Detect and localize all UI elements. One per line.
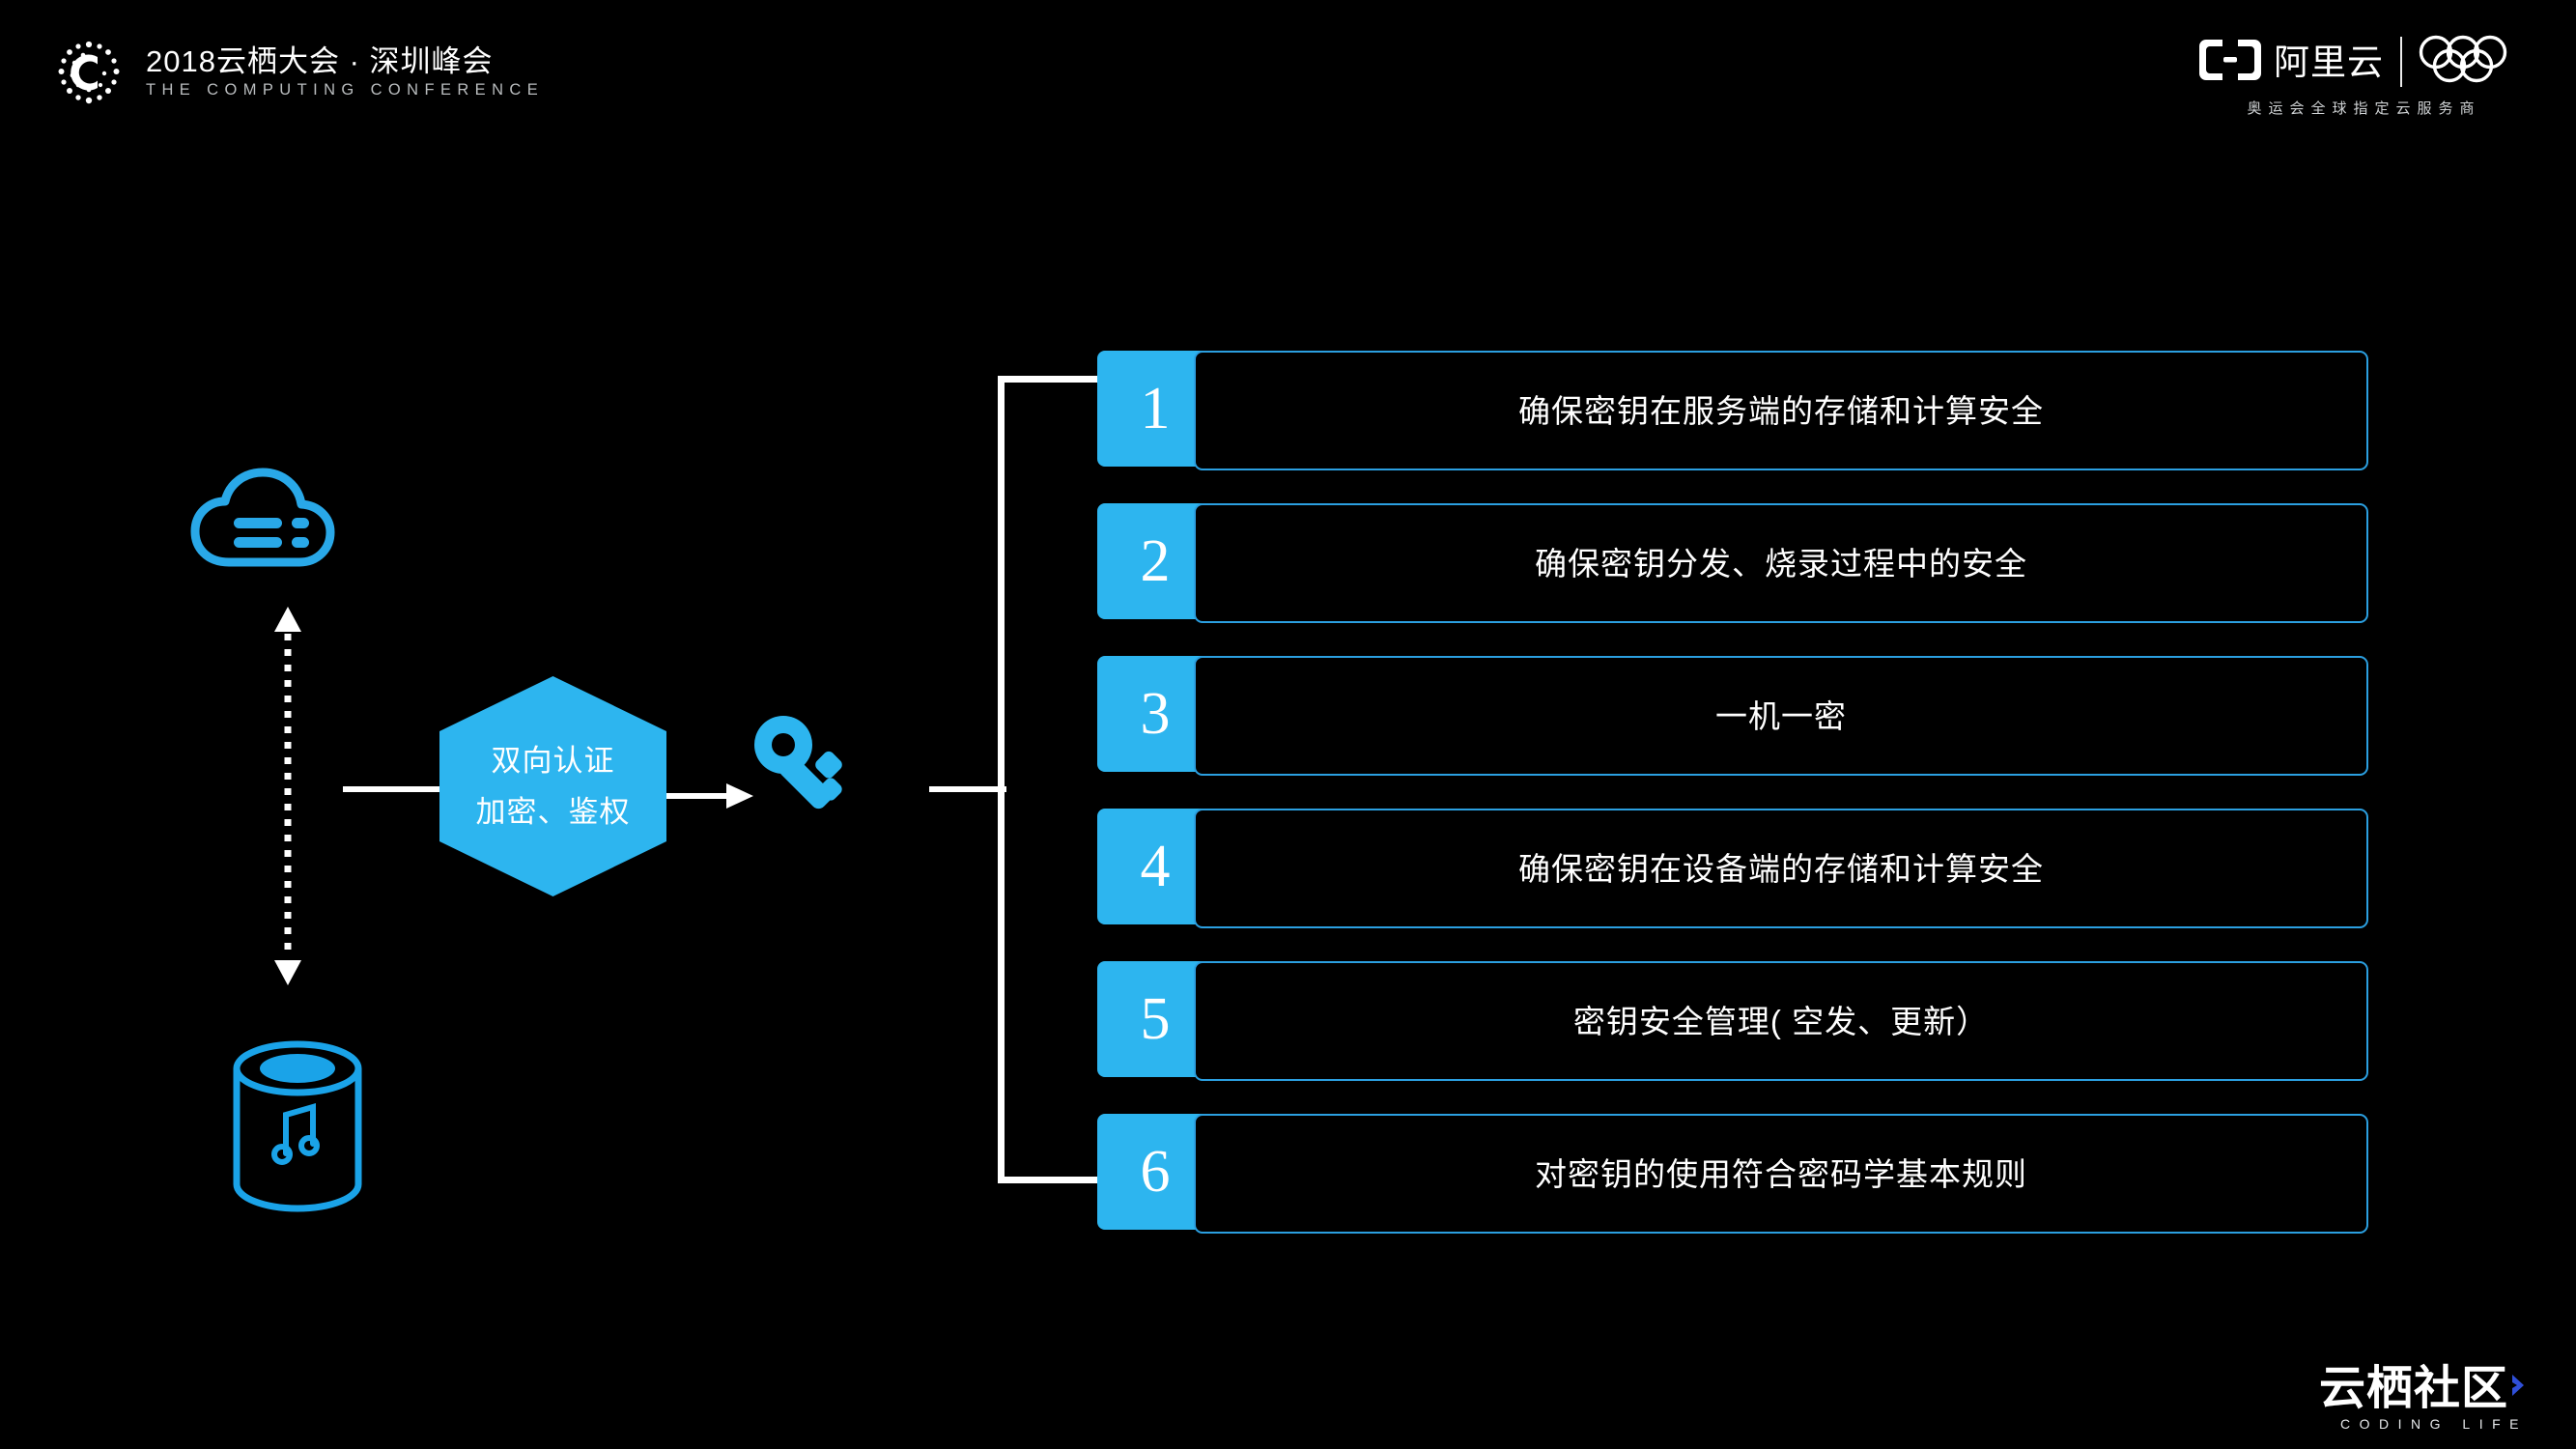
hexagon-line-2: 加密、鉴权 (476, 797, 631, 827)
alibaba-cloud-icon (2199, 40, 2261, 85)
olympic-rings-icon (2419, 35, 2523, 90)
flow-line-key-to-bracket (929, 786, 1006, 792)
list-item[interactable]: 5 密钥安全管理( 空发、更新） (1097, 961, 2368, 1077)
sponsor-tagline: 奥运会全球指定云服务商 (2241, 98, 2480, 118)
page-title: 2018云栖大会 · 深圳峰会 (146, 46, 544, 76)
footer-logo-text: 云栖社区 (2319, 1366, 2508, 1412)
bracket-connector (998, 376, 1099, 1183)
qu-bracket-icon (2510, 1363, 2530, 1412)
logo-divider (2400, 37, 2402, 87)
list-item[interactable]: 3 一机一密 (1097, 656, 2368, 772)
sponsor-logo-row: 阿里云 (2199, 35, 2523, 89)
list-item-body: 确保密钥在设备端的存储和计算安全 (1194, 809, 2368, 928)
footer-logo-row: 云栖社区 (2319, 1363, 2530, 1412)
bracket-top-arm (998, 376, 1099, 383)
list-item-body: 确保密钥分发、烧录过程中的安全 (1194, 503, 2368, 623)
requirement-list: 1 确保密钥在服务端的存储和计算安全 2 确保密钥分发、烧录过程中的安全 3 一… (1097, 351, 2368, 1230)
mutual-auth-hexagon: 双向认证 加密、鉴权 (439, 676, 666, 896)
list-item-label: 确保密钥分发、烧录过程中的安全 (1535, 548, 2027, 580)
key-icon (749, 710, 860, 826)
list-item-label: 确保密钥在服务端的存储和计算安全 (1518, 395, 2044, 427)
yunqi-community-logo: 云栖社区 CODING LIFE (2319, 1363, 2530, 1432)
list-item-body: 密钥安全管理( 空发、更新） (1194, 961, 2368, 1081)
smart-speaker-icon (220, 1036, 375, 1224)
footer-tagline: CODING LIFE (2340, 1416, 2530, 1432)
list-item[interactable]: 1 确保密钥在服务端的存储和计算安全 (1097, 351, 2368, 467)
computing-conference-dots-logo (53, 37, 125, 108)
cloud-server-icon (189, 454, 336, 575)
list-item-label: 一机一密 (1715, 700, 1847, 732)
list-item[interactable]: 2 确保密钥分发、烧录过程中的安全 (1097, 503, 2368, 619)
page-subtitle: THE COMPUTING CONFERENCE (146, 82, 544, 99)
list-item-label: 确保密钥在设备端的存储和计算安全 (1518, 853, 2044, 885)
hexagon-line-1: 双向认证 (492, 746, 615, 776)
bidirectional-dotted-arrow-icon (272, 607, 303, 990)
list-item-body: 确保密钥在服务端的存储和计算安全 (1194, 351, 2368, 470)
list-item[interactable]: 4 确保密钥在设备端的存储和计算安全 (1097, 809, 2368, 924)
bracket-bottom-arm (998, 1177, 1099, 1183)
list-item-label: 对密钥的使用符合密码学基本规则 (1535, 1158, 2027, 1190)
list-item[interactable]: 6 对密钥的使用符合密码学基本规则 (1097, 1114, 2368, 1230)
flow-arrow-hexagon-to-key (666, 783, 753, 813)
conference-title-block: 2018云栖大会 · 深圳峰会 THE COMPUTING CONFERENCE (146, 46, 544, 99)
list-item-label: 密钥安全管理( 空发、更新） (1573, 1006, 1989, 1037)
slide-root: 2018云栖大会 · 深圳峰会 THE COMPUTING CONFERENCE… (0, 0, 2576, 1449)
list-item-body: 对密钥的使用符合密码学基本规则 (1194, 1114, 2368, 1234)
list-item-body: 一机一密 (1194, 656, 2368, 776)
alibaba-cloud-logo: 阿里云 (2199, 40, 2384, 85)
bracket-vertical (998, 376, 1005, 1183)
sponsor-branding: 阿里云 奥运会全球指定云服务商 (2199, 35, 2523, 118)
alibaba-cloud-wordmark: 阿里云 (2274, 44, 2384, 80)
conference-branding: 2018云栖大会 · 深圳峰会 THE COMPUTING CONFERENCE (53, 37, 544, 108)
